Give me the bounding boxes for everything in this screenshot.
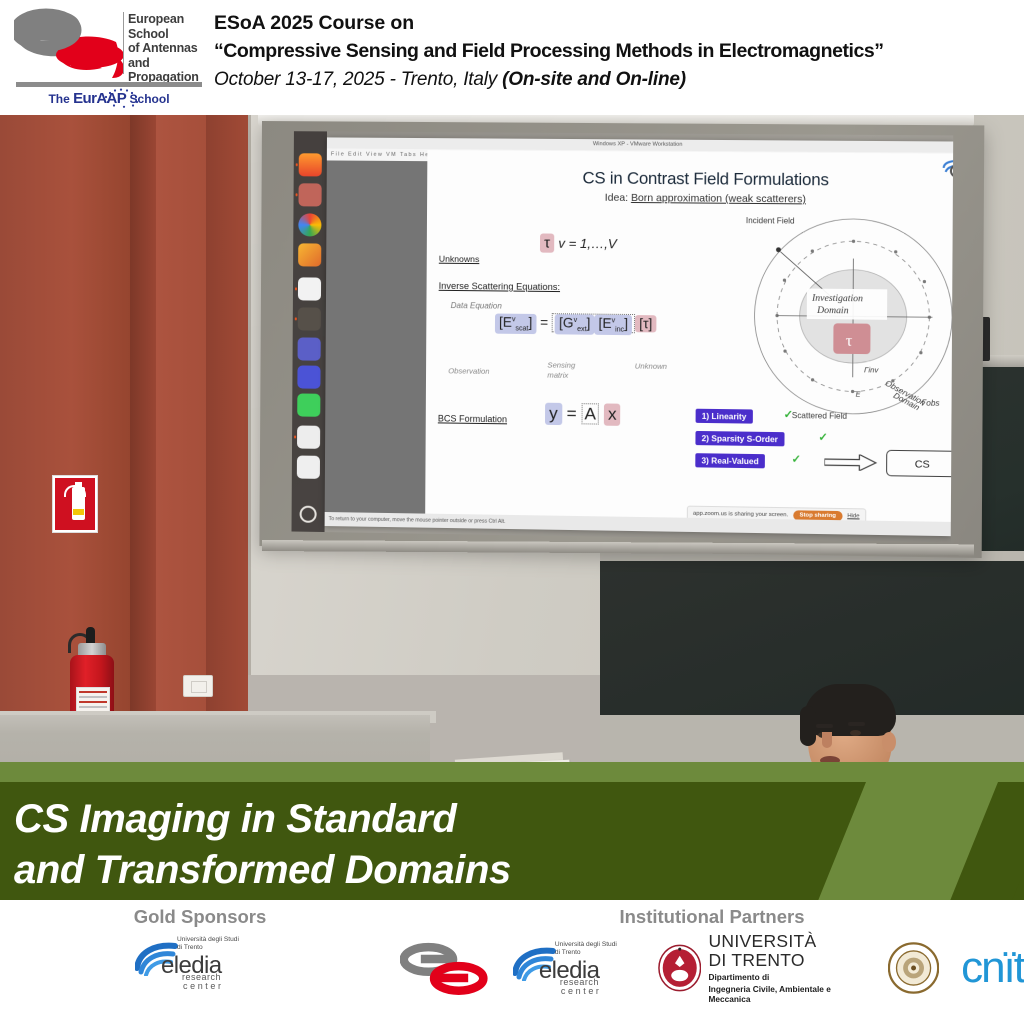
svg-text:τ: τ <box>846 333 853 350</box>
check-icon-real-valued: ✓ <box>792 453 802 466</box>
slide-title: CS in Contrast Field Formulations <box>427 168 953 191</box>
gold-sponsors-column: Gold Sponsors Università degli Studi di … <box>0 900 400 1024</box>
svg-text:Scattered Field: Scattered Field <box>792 411 847 421</box>
unitn-line-1: UNIVERSITÀ <box>708 932 865 951</box>
fire-extinguisher-sign-icon <box>52 475 98 533</box>
svg-text:Investigation: Investigation <box>811 294 863 305</box>
svg-text:E: E <box>856 392 861 399</box>
dock-icon-vmware[interactable] <box>298 243 321 266</box>
svg-text:Domain: Domain <box>816 306 849 316</box>
header-line-3: October 13-17, 2025 - Trento, Italy (On-… <box>214 66 1020 94</box>
vmware-window[interactable]: Windows XP - VMware Workstation File Edi… <box>325 137 954 536</box>
institutional-partners-heading: Institutional Partners <box>400 900 1024 928</box>
wall-light-switch[interactable] <box>183 675 213 697</box>
projection-screen: Windows XP - VMware Workstation File Edi… <box>259 121 984 558</box>
slide-label-unknown: Unknown <box>635 361 667 370</box>
header-line-2: “Compressive Sensing and Field Processin… <box>214 37 1020 65</box>
dock-icon-firefox[interactable] <box>299 153 322 176</box>
eledia-unitn-caption: Università degli Studi di Trento <box>555 941 617 957</box>
eq-x: x <box>604 403 621 425</box>
slide-eq-unknowns: τ v = 1,…,V <box>540 233 617 253</box>
sponsors-footer: Gold Sponsors Università degli Studi di … <box>0 900 1024 1024</box>
arrow-right-icon <box>824 454 878 471</box>
esoa-org-text: European School of Antennas and Propagat… <box>128 12 220 85</box>
institutional-partners-column: Institutional Partners Università degli … <box>400 900 1024 1024</box>
talk-title-line-1: CS Imaging in Standard <box>14 794 854 845</box>
euraap-mark: EurAAP <box>73 90 126 107</box>
svg-text:Γobs: Γobs <box>922 398 940 407</box>
gold-sponsors-row: Università degli Studi di Trento eledia … <box>0 932 400 994</box>
header-date-venue: October 13-17, 2025 - Trento, Italy <box>214 69 502 90</box>
university-of-trento-logo: UNIVERSITÀ DI TRENTO Dipartimento di Ing… <box>658 932 866 1004</box>
eq-tau2: [τ] <box>635 315 656 332</box>
dock-icon-whatsapp[interactable] <box>297 393 320 416</box>
eq-escat: [Evscat] <box>495 314 537 334</box>
eq-equals: = <box>567 404 577 423</box>
talk-title: CS Imaging in Standard and Transformed D… <box>14 794 854 896</box>
talk-title-banner: CS Imaging in Standard and Transformed D… <box>0 762 1024 900</box>
dock-icon-files[interactable] <box>298 183 321 206</box>
org-line-1: European <box>128 12 220 27</box>
slide-label-unknowns: Unknowns <box>439 254 480 264</box>
slide-idea-line: Idea: Born approximation (weak scatterer… <box>427 191 953 207</box>
projected-desktop: Windows XP - VMware Workstation File Edi… <box>291 131 953 542</box>
dock-icon-trash[interactable] <box>297 456 320 479</box>
cnit-logo: cnït <box>961 943 1024 993</box>
wall-pillar-d <box>206 115 248 727</box>
dock-icon-teams[interactable] <box>298 337 321 360</box>
header-text-block: ESoA 2025 Course on “Compressive Sensing… <box>214 10 1020 94</box>
slide-label-data-equation: Data Equation <box>451 301 502 311</box>
idea-prefix: Idea: <box>605 193 631 204</box>
page-header: European School of Antennas and Propagat… <box>0 0 1024 115</box>
eledia-sub-center: center <box>561 986 602 996</box>
wall-seam <box>248 115 251 675</box>
slide-bcs-equation: y = A x <box>545 403 621 426</box>
org-line-4: and Propagation <box>128 56 220 85</box>
euraap-prefix: The <box>48 92 73 106</box>
gold-sponsors-heading: Gold Sponsors <box>0 900 400 928</box>
dock-icon-chrome[interactable] <box>298 213 321 236</box>
eledia-unitn-caption: Università degli Studi di Trento <box>177 936 239 952</box>
slide-label-observation: Observation <box>448 366 489 376</box>
euraap-suffix: School <box>126 92 169 106</box>
idea-underlined: Born approximation (weak scatterers) <box>631 193 806 206</box>
unirc-mediterranea-seal-icon <box>888 941 939 995</box>
cs-result-box: CS <box>886 450 953 477</box>
header-mode: (On-site and On-line) <box>502 69 686 90</box>
esoa-emblem-icon <box>14 8 126 80</box>
unitn-text-block: UNIVERSITÀ DI TRENTO Dipartimento di Ing… <box>708 932 865 1004</box>
ubuntu-dock[interactable] <box>291 131 327 532</box>
euraap-school-label: The EurAAP School <box>16 90 202 107</box>
eq-einc: [Evinc] <box>594 315 632 335</box>
slide-label-inverse-scattering: Inverse Scattering Equations: <box>439 281 560 292</box>
hide-share-bar-button[interactable]: Hide <box>847 513 859 519</box>
unitn-dept-line-2: Ingegneria Civile, Ambientale e Meccanic… <box>708 984 865 1004</box>
eledia-sub-center: center <box>183 981 224 991</box>
powerpoint-slide: CS in Contrast Field Formulations Idea: … <box>425 150 953 537</box>
institutional-partners-row: Università degli Studi di Trento eledia … <box>400 932 1024 1004</box>
dock-icon-search[interactable] <box>297 425 320 448</box>
slide-label-sensing-matrix: Sensingmatrix <box>547 360 575 380</box>
wall-pillar-a <box>0 115 130 720</box>
svg-text:Γinv: Γinv <box>864 365 880 374</box>
eq-gext: [Gvext] <box>555 314 595 334</box>
unitn-dept-line-1: Dipartimento di <box>708 972 865 982</box>
dock-icon-powerpoint[interactable] <box>298 277 321 300</box>
eledia-logo-gold: Università degli Studi di Trento eledia … <box>135 932 265 994</box>
unitn-line-2: DI TRENTO <box>708 951 865 970</box>
svg-text:Incident Field: Incident Field <box>746 216 795 226</box>
slide-label-bcs: BCS Formulation <box>438 413 507 424</box>
eq-A: A <box>581 403 599 424</box>
slide-data-equation: [Evscat] = [Gvext][Evinc][τ] <box>495 314 657 336</box>
dock-icon-terminal[interactable] <box>298 307 321 330</box>
dock-icon-app-grid[interactable] <box>300 506 317 523</box>
esoa-emblem-small-icon <box>400 940 491 996</box>
eq-y: y <box>545 403 562 425</box>
unitn-crest-icon <box>658 943 701 993</box>
scattering-geometry-diagram: Investigation Domain τ Incident Field E … <box>730 209 953 425</box>
condition-chip-real-valued: 3) Real-Valued <box>695 453 765 468</box>
tau-box: τ <box>540 233 554 252</box>
eledia-logo-institutional: Università degli Studi di Trento eledia … <box>513 937 636 999</box>
check-icon-sparsity: ✓ <box>818 431 828 444</box>
talk-title-line-2: and Transformed Domains <box>14 845 854 896</box>
org-line-2: School <box>128 27 220 42</box>
dock-icon-zoom[interactable] <box>297 365 320 388</box>
header-line-1: ESoA 2025 Course on <box>214 10 1020 37</box>
org-line-3: of Antennas <box>128 41 220 56</box>
wall-pillar-b <box>130 115 156 720</box>
logo-divider <box>123 12 124 74</box>
logo-rule <box>16 82 202 87</box>
v-range: v = 1,…,V <box>558 236 616 252</box>
condition-chip-sparsity: 2) Sparsity S-Order <box>695 431 784 446</box>
esoa-logo: European School of Antennas and Propagat… <box>8 4 203 109</box>
